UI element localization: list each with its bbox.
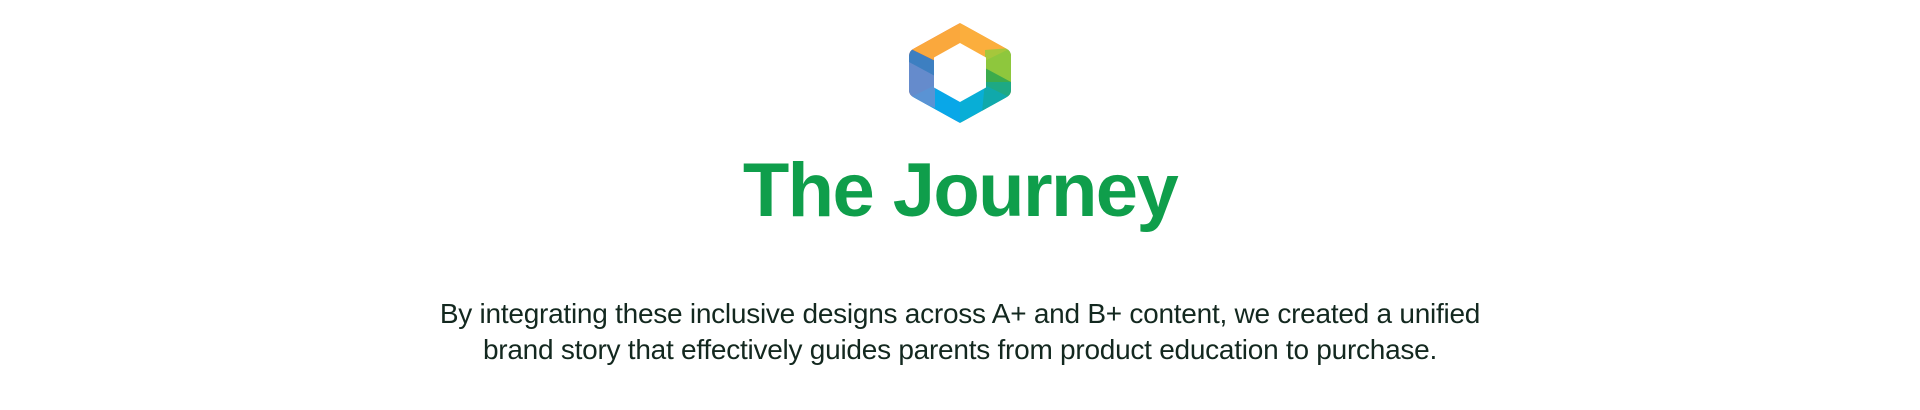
page-subtitle: By integrating these inclusive designs a…	[260, 296, 1660, 369]
hexagon-ring-logo	[907, 22, 1013, 124]
subtitle-line-1: By integrating these inclusive designs a…	[260, 296, 1660, 332]
logo-container	[0, 22, 1920, 124]
page-title: The Journey	[0, 150, 1920, 232]
title-container: The Journey	[0, 150, 1920, 232]
subtitle-line-2: brand story that effectively guides pare…	[260, 332, 1660, 368]
subtitle-container: By integrating these inclusive designs a…	[0, 296, 1920, 369]
logo-segment-teal	[982, 82, 1011, 112]
journey-section: The Journey By integrating these inclusi…	[0, 0, 1920, 410]
